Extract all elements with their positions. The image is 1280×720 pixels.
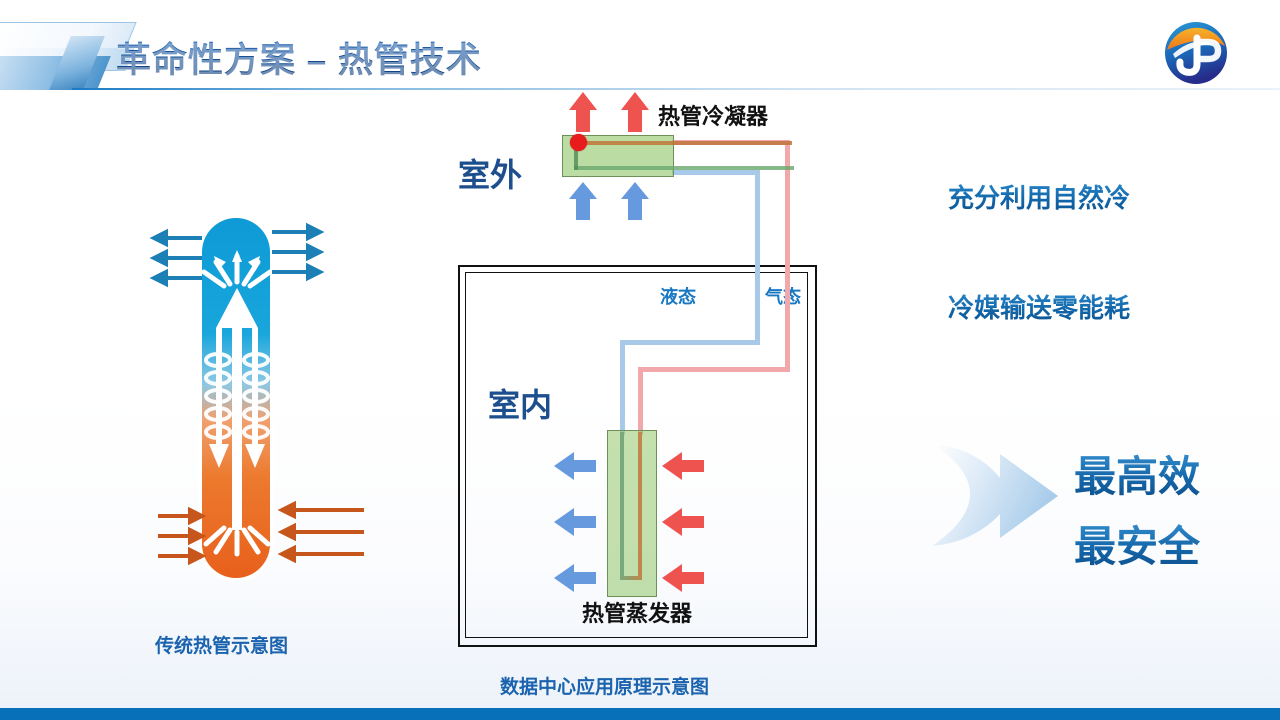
headline-most-safe: 最安全	[1074, 513, 1200, 574]
liquid-pipe-segment-to-evaporator	[620, 340, 625, 435]
evaporator-cold-air-out-arrows	[552, 452, 602, 592]
footer-accent-bar	[0, 708, 1280, 720]
condenser-internal-vapour-line	[586, 141, 792, 145]
evaporator-vapour-tube	[638, 432, 642, 580]
indoor-label: 室内	[488, 380, 552, 426]
benefit-bullet-2: 冷媒输送零能耗	[948, 288, 1130, 325]
benefit-bullet-1: 充分利用自然冷	[948, 178, 1130, 215]
heatpipe-evaporator-unit	[607, 430, 657, 597]
traditional-heatpipe-figure	[140, 210, 380, 610]
liquid-state-label: 液态	[660, 283, 696, 309]
evaporator-liquid-tube	[620, 432, 624, 580]
center-diagram-caption: 数据中心应用原理示意图	[500, 672, 709, 699]
evaporator-label: 热管蒸发器	[582, 596, 692, 628]
gas-pipe-segment-to-evaporator	[638, 367, 643, 435]
gas-state-label: 气态	[765, 283, 801, 309]
liquid-pipe-segment-vertical	[755, 170, 760, 344]
condenser-marker-dot	[570, 134, 587, 151]
gas-pipe-segment-vertical	[785, 140, 790, 372]
condenser-hot-air-out-arrows	[562, 90, 682, 134]
liquid-pipe-segment-indoor-horizontal	[620, 340, 760, 345]
datacenter-principle-diagram: 室外 室内 热管冷凝器 热管蒸发器 液态 气态	[440, 90, 840, 670]
headline-most-efficient: 最高效	[1074, 443, 1200, 504]
condenser-internal-liquid-line	[574, 166, 794, 170]
outdoor-label: 室外	[458, 150, 522, 196]
page-title: 革命性方案 – 热管技术	[116, 32, 482, 83]
evaporator-tube-bend	[620, 576, 642, 580]
liquid-pipe-segment-top	[672, 170, 760, 175]
big-right-arrow-icon	[930, 438, 1060, 550]
evaporator-hot-air-in-arrows	[660, 452, 710, 592]
slide-root: 革命性方案 – 热管技术	[0, 0, 1280, 720]
left-figure-caption: 传统热管示意图	[155, 631, 288, 658]
gas-pipe-segment-indoor-horizontal	[638, 367, 790, 372]
condenser-cool-air-in-arrows	[562, 182, 682, 222]
slide-header: 革命性方案 – 热管技术	[0, 0, 1280, 95]
company-logo-icon	[1163, 20, 1229, 86]
